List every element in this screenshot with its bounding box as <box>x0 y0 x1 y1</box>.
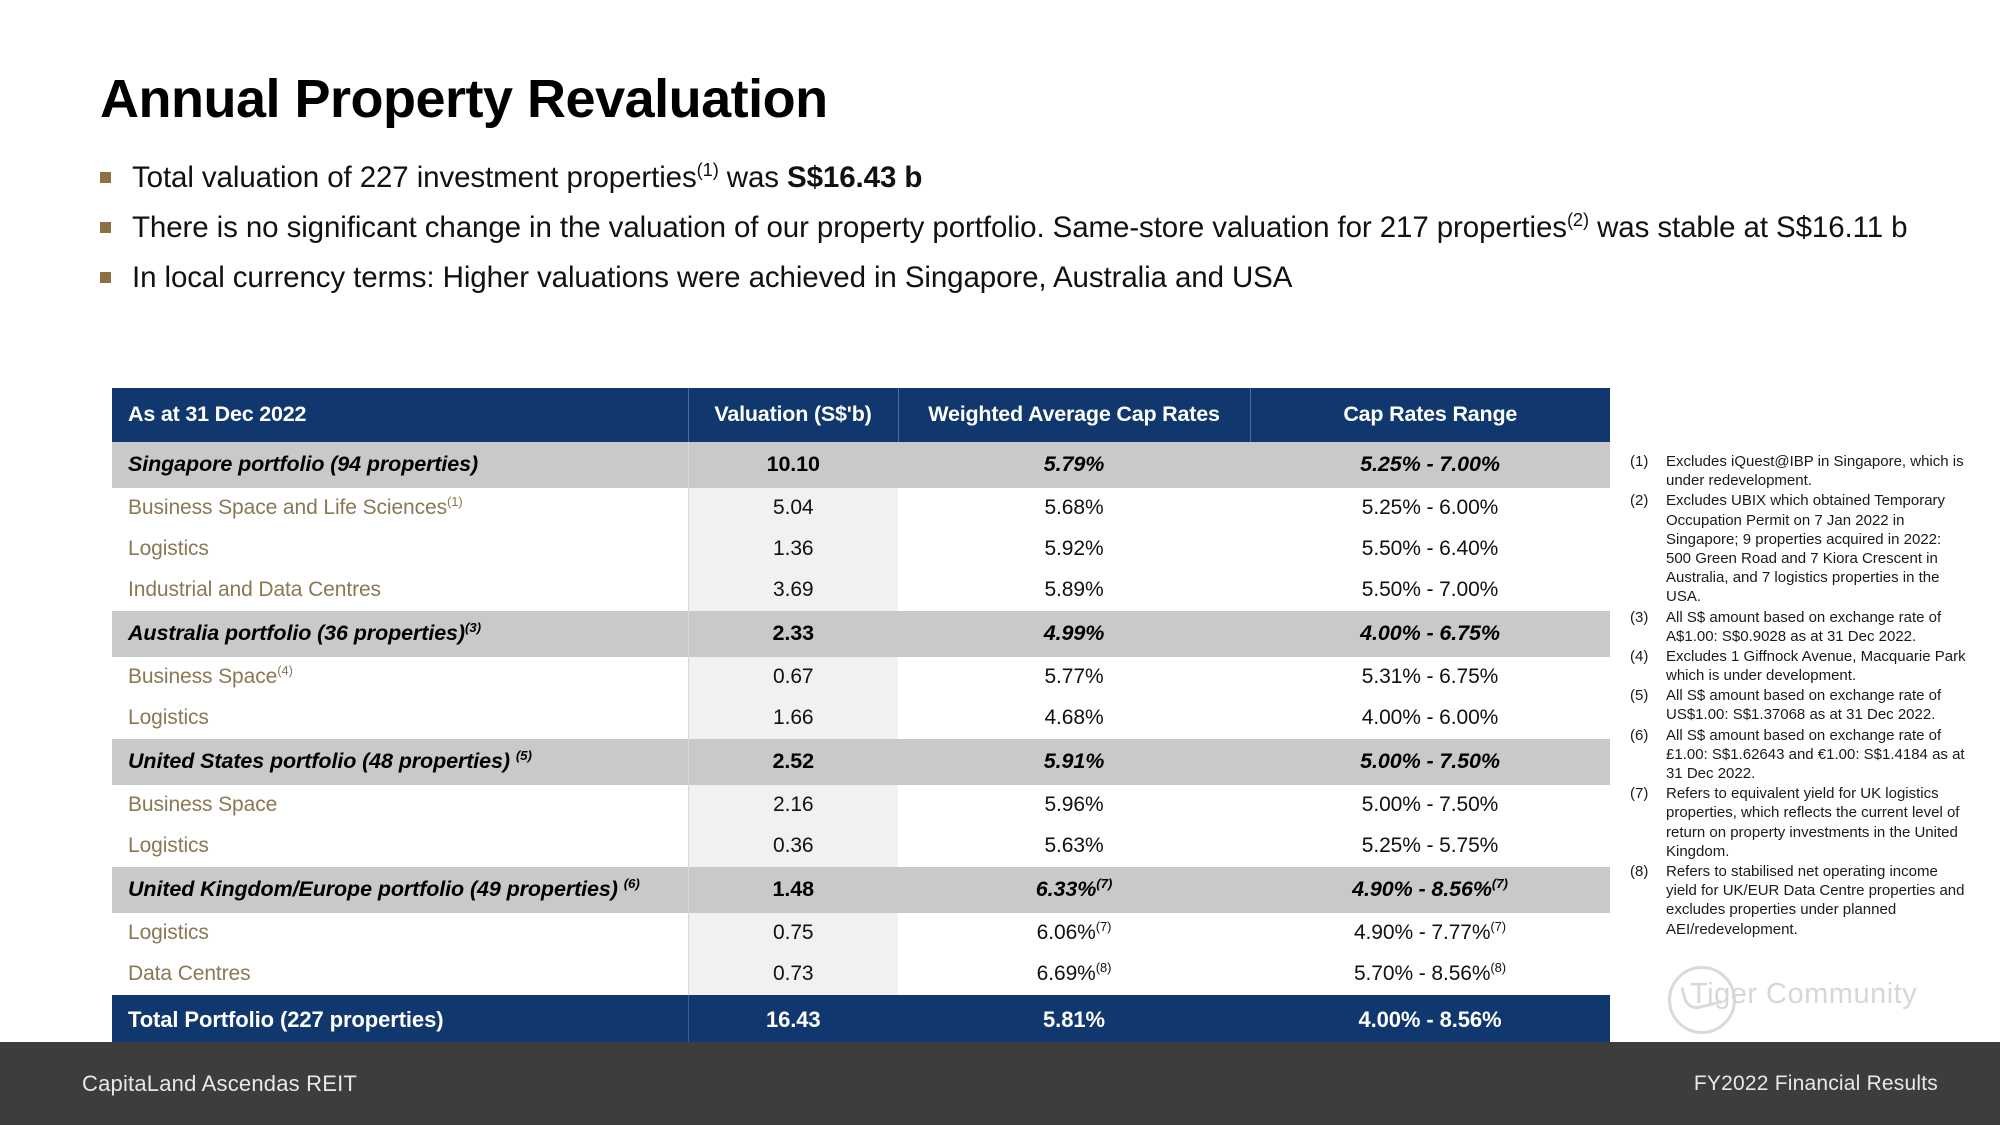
cell-valuation: 0.67 <box>688 657 898 698</box>
bullet-list: Total valuation of 227 investment proper… <box>100 158 1930 309</box>
footnote-ref: (7) <box>1096 876 1112 891</box>
footnote-item: (5)All S$ amount based on exchange rate … <box>1630 686 1970 724</box>
cell-weighted-average-cap-rate: 4.68% <box>898 698 1250 739</box>
column-header-valuation: Valuation (S$'b) <box>688 388 898 442</box>
valuation-table: As at 31 Dec 2022 Valuation (S$'b) Weigh… <box>112 388 1610 1046</box>
cell-label: Total Portfolio (227 properties) <box>112 995 688 1046</box>
cell-cap-rates-range: 5.00% - 7.50% <box>1250 785 1610 826</box>
column-header-wacr: Weighted Average Cap Rates <box>898 388 1250 442</box>
cell-cap-rates-range: 5.50% - 6.40% <box>1250 529 1610 570</box>
cell-valuation: 0.36 <box>688 826 898 867</box>
cell-label: Business Space <box>112 785 688 826</box>
cell-weighted-average-cap-rate: 5.89% <box>898 570 1250 611</box>
cell-valuation: 2.52 <box>688 739 898 785</box>
cell-weighted-average-cap-rate: 5.91% <box>898 739 1250 785</box>
footnote-item: (4)Excludes 1 Giffnock Avenue, Macquarie… <box>1630 647 1970 685</box>
cell-valuation: 1.36 <box>688 529 898 570</box>
cell-cap-rates-range: 4.90% - 7.77%(7) <box>1250 913 1610 954</box>
footnote-ref: (7) <box>1096 919 1112 934</box>
footnote-number: (5) <box>1630 686 1666 724</box>
footnote-text: All S$ amount based on exchange rate of … <box>1666 686 1970 724</box>
footnote-ref: (7) <box>1492 876 1508 891</box>
bullet-item: There is no significant change in the va… <box>100 208 1930 247</box>
footnote-text: Excludes 1 Giffnock Avenue, Macquarie Pa… <box>1666 647 1970 685</box>
cell-cap-rates-range: 4.00% - 8.56% <box>1250 995 1610 1046</box>
cell-valuation: 2.33 <box>688 611 898 657</box>
cell-label: Logistics <box>112 826 688 867</box>
cell-cap-rates-range: 4.00% - 6.75% <box>1250 611 1610 657</box>
bullet-square-icon <box>100 172 111 183</box>
tiger-community-watermark: Tiger Community <box>1690 978 1917 1011</box>
bullet-item: In local currency terms: Higher valuatio… <box>100 258 1930 297</box>
table-row: Business Space2.165.96%5.00% - 7.50% <box>112 785 1610 826</box>
cell-weighted-average-cap-rate: 5.68% <box>898 488 1250 529</box>
footnote-ref: (7) <box>1490 919 1506 934</box>
footnote-item: (8)Refers to stabilised net operating in… <box>1630 862 1970 939</box>
footnote-ref: (4) <box>277 663 293 678</box>
bullet-square-icon <box>100 272 111 283</box>
footnote-ref: (6) <box>624 876 640 891</box>
bullet-emphasis: S$16.43 b <box>787 161 922 194</box>
footnote-text: Excludes iQuest@IBP in Singapore, which … <box>1666 452 1970 490</box>
cell-label: Logistics <box>112 698 688 739</box>
cell-cap-rates-range: 5.00% - 7.50% <box>1250 739 1610 785</box>
cell-weighted-average-cap-rate: 6.33%(7) <box>898 867 1250 913</box>
cell-weighted-average-cap-rate: 6.69%(8) <box>898 954 1250 995</box>
footnote-text: Refers to stabilised net operating incom… <box>1666 862 1970 939</box>
cell-valuation: 0.75 <box>688 913 898 954</box>
cell-label: United Kingdom/Europe portfolio (49 prop… <box>112 867 688 913</box>
footnote-number: (8) <box>1630 862 1666 939</box>
bullet-item: Total valuation of 227 investment proper… <box>100 158 1930 197</box>
table-row: Business Space and Life Sciences(1)5.045… <box>112 488 1610 529</box>
cell-valuation: 3.69 <box>688 570 898 611</box>
cell-weighted-average-cap-rate: 4.99% <box>898 611 1250 657</box>
cell-cap-rates-range: 5.31% - 6.75% <box>1250 657 1610 698</box>
page-title: Annual Property Revaluation <box>100 70 828 129</box>
cell-weighted-average-cap-rate: 5.81% <box>898 995 1250 1046</box>
footnote-item: (7)Refers to equivalent yield for UK log… <box>1630 784 1970 861</box>
cell-weighted-average-cap-rate: 5.77% <box>898 657 1250 698</box>
table-row: Logistics1.365.92%5.50% - 6.40% <box>112 529 1610 570</box>
table-row: Business Space(4)0.675.77%5.31% - 6.75% <box>112 657 1610 698</box>
bullet-footnote-ref: (1) <box>697 159 719 180</box>
cell-valuation: 0.73 <box>688 954 898 995</box>
cell-label: Singapore portfolio (94 properties) <box>112 442 688 488</box>
bullet-text: In local currency terms: Higher valuatio… <box>132 258 1292 297</box>
footer-deck-name: FY2022 Financial Results <box>1694 1072 1938 1096</box>
table-head: As at 31 Dec 2022 Valuation (S$'b) Weigh… <box>112 388 1610 442</box>
footnote-item: (1)Excludes iQuest@IBP in Singapore, whi… <box>1630 452 1970 490</box>
table-header-row: As at 31 Dec 2022 Valuation (S$'b) Weigh… <box>112 388 1610 442</box>
cell-weighted-average-cap-rate: 6.06%(7) <box>898 913 1250 954</box>
bullet-square-icon <box>100 222 111 233</box>
cell-cap-rates-range: 5.50% - 7.00% <box>1250 570 1610 611</box>
table-row-group: United States portfolio (48 properties) … <box>112 739 1610 785</box>
cell-label: Australia portfolio (36 properties)(3) <box>112 611 688 657</box>
cell-valuation: 16.43 <box>688 995 898 1046</box>
cell-weighted-average-cap-rate: 5.96% <box>898 785 1250 826</box>
footnote-number: (3) <box>1630 608 1666 646</box>
cell-label: Business Space and Life Sciences(1) <box>112 488 688 529</box>
footnote-number: (6) <box>1630 726 1666 784</box>
footnote-text: Refers to equivalent yield for UK logist… <box>1666 784 1970 861</box>
cell-label: Data Centres <box>112 954 688 995</box>
cell-cap-rates-range: 5.25% - 5.75% <box>1250 826 1610 867</box>
bullet-text: Total valuation of 227 investment proper… <box>132 158 922 197</box>
cell-valuation: 2.16 <box>688 785 898 826</box>
footnote-ref: (8) <box>1490 960 1506 975</box>
cell-weighted-average-cap-rate: 5.79% <box>898 442 1250 488</box>
bullet-text: There is no significant change in the va… <box>132 208 1907 247</box>
cell-label: Business Space(4) <box>112 657 688 698</box>
slide-root: Annual Property Revaluation Total valuat… <box>0 0 2000 1125</box>
cell-valuation: 5.04 <box>688 488 898 529</box>
footnote-ref: (5) <box>516 748 532 763</box>
table-row: Industrial and Data Centres3.695.89%5.50… <box>112 570 1610 611</box>
cell-label: Logistics <box>112 529 688 570</box>
cell-label: Industrial and Data Centres <box>112 570 688 611</box>
footnote-text: Excludes UBIX which obtained Temporary O… <box>1666 491 1970 606</box>
cell-valuation: 1.48 <box>688 867 898 913</box>
cell-cap-rates-range: 4.00% - 6.00% <box>1250 698 1610 739</box>
cell-cap-rates-range: 5.70% - 8.56%(8) <box>1250 954 1610 995</box>
column-header-cap-range: Cap Rates Range <box>1250 388 1610 442</box>
footnote-text: All S$ amount based on exchange rate of … <box>1666 726 1970 784</box>
cell-cap-rates-range: 5.25% - 7.00% <box>1250 442 1610 488</box>
table-row-group: United Kingdom/Europe portfolio (49 prop… <box>112 867 1610 913</box>
table-body: Singapore portfolio (94 properties)10.10… <box>112 442 1610 1046</box>
footnote-ref: (3) <box>465 620 481 635</box>
cell-label: United States portfolio (48 properties) … <box>112 739 688 785</box>
footnote-number: (2) <box>1630 491 1666 606</box>
footnote-ref: (1) <box>447 494 463 509</box>
cell-label: Logistics <box>112 913 688 954</box>
table-row-total: Total Portfolio (227 properties)16.435.8… <box>112 995 1610 1046</box>
cell-valuation: 1.66 <box>688 698 898 739</box>
cell-cap-rates-range: 4.90% - 8.56%(7) <box>1250 867 1610 913</box>
footnotes-list: (1)Excludes iQuest@IBP in Singapore, whi… <box>1630 452 1970 940</box>
footnote-ref: (8) <box>1096 960 1112 975</box>
footnote-number: (1) <box>1630 452 1666 490</box>
slide-footer: CapitaLand Ascendas REIT FY2022 Financia… <box>0 1042 2000 1125</box>
footnote-item: (2)Excludes UBIX which obtained Temporar… <box>1630 491 1970 606</box>
table-row-group: Singapore portfolio (94 properties)10.10… <box>112 442 1610 488</box>
valuation-table-container: As at 31 Dec 2022 Valuation (S$'b) Weigh… <box>112 388 1610 1046</box>
cell-weighted-average-cap-rate: 5.63% <box>898 826 1250 867</box>
table-row-group: Australia portfolio (36 properties)(3)2.… <box>112 611 1610 657</box>
footnote-item: (3)All S$ amount based on exchange rate … <box>1630 608 1970 646</box>
cell-cap-rates-range: 5.25% - 6.00% <box>1250 488 1610 529</box>
table-row: Logistics0.365.63%5.25% - 5.75% <box>112 826 1610 867</box>
table-row: Data Centres0.736.69%(8)5.70% - 8.56%(8) <box>112 954 1610 995</box>
tiger-logo-icon <box>1668 966 1736 1034</box>
footer-brand: CapitaLand Ascendas REIT <box>82 1071 357 1097</box>
footnote-number: (7) <box>1630 784 1666 861</box>
bullet-footnote-ref: (2) <box>1567 209 1589 230</box>
column-header-period: As at 31 Dec 2022 <box>112 388 688 442</box>
footnote-number: (4) <box>1630 647 1666 685</box>
footnote-text: All S$ amount based on exchange rate of … <box>1666 608 1970 646</box>
cell-valuation: 10.10 <box>688 442 898 488</box>
footnote-item: (6)All S$ amount based on exchange rate … <box>1630 726 1970 784</box>
cell-weighted-average-cap-rate: 5.92% <box>898 529 1250 570</box>
table-row: Logistics0.756.06%(7)4.90% - 7.77%(7) <box>112 913 1610 954</box>
table-row: Logistics1.664.68%4.00% - 6.00% <box>112 698 1610 739</box>
